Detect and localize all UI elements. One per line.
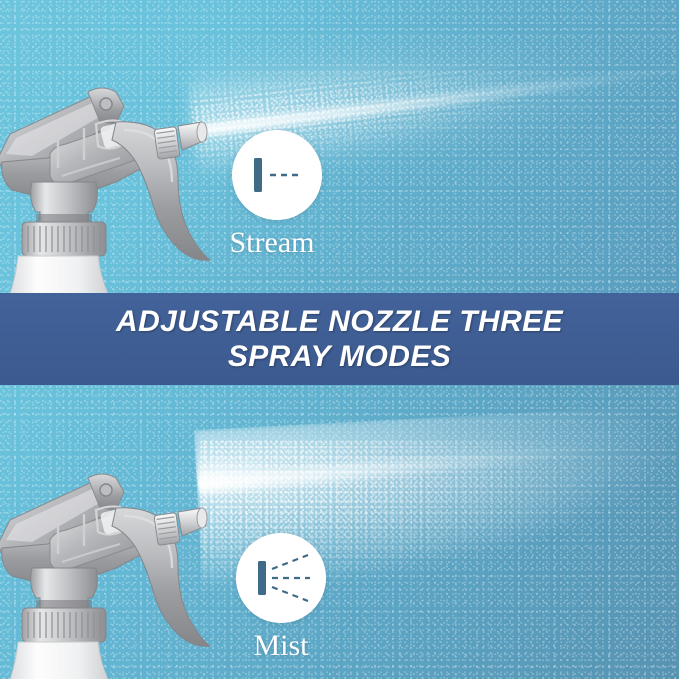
trigger-sprayer-bottom <box>0 448 236 679</box>
mist-spray-icon <box>236 533 326 623</box>
mode-label-stream: Stream <box>222 226 322 259</box>
trigger-sprayer-top <box>0 62 236 294</box>
mode-badge-mist[interactable]: Mist <box>236 533 326 662</box>
mode-badge-stream[interactable]: Stream <box>232 130 322 259</box>
mode-label-mist: Mist <box>236 629 326 662</box>
headline-banner: ADJUSTABLE NOZZLE THREE SPRAY MODES <box>0 293 679 385</box>
stream-spray-icon <box>232 130 322 220</box>
headline-text: ADJUSTABLE NOZZLE THREE SPRAY MODES <box>116 304 563 374</box>
product-feature-image: Stream ADJUSTABLE NOZZLE THREE SPRAY MOD… <box>0 0 679 679</box>
